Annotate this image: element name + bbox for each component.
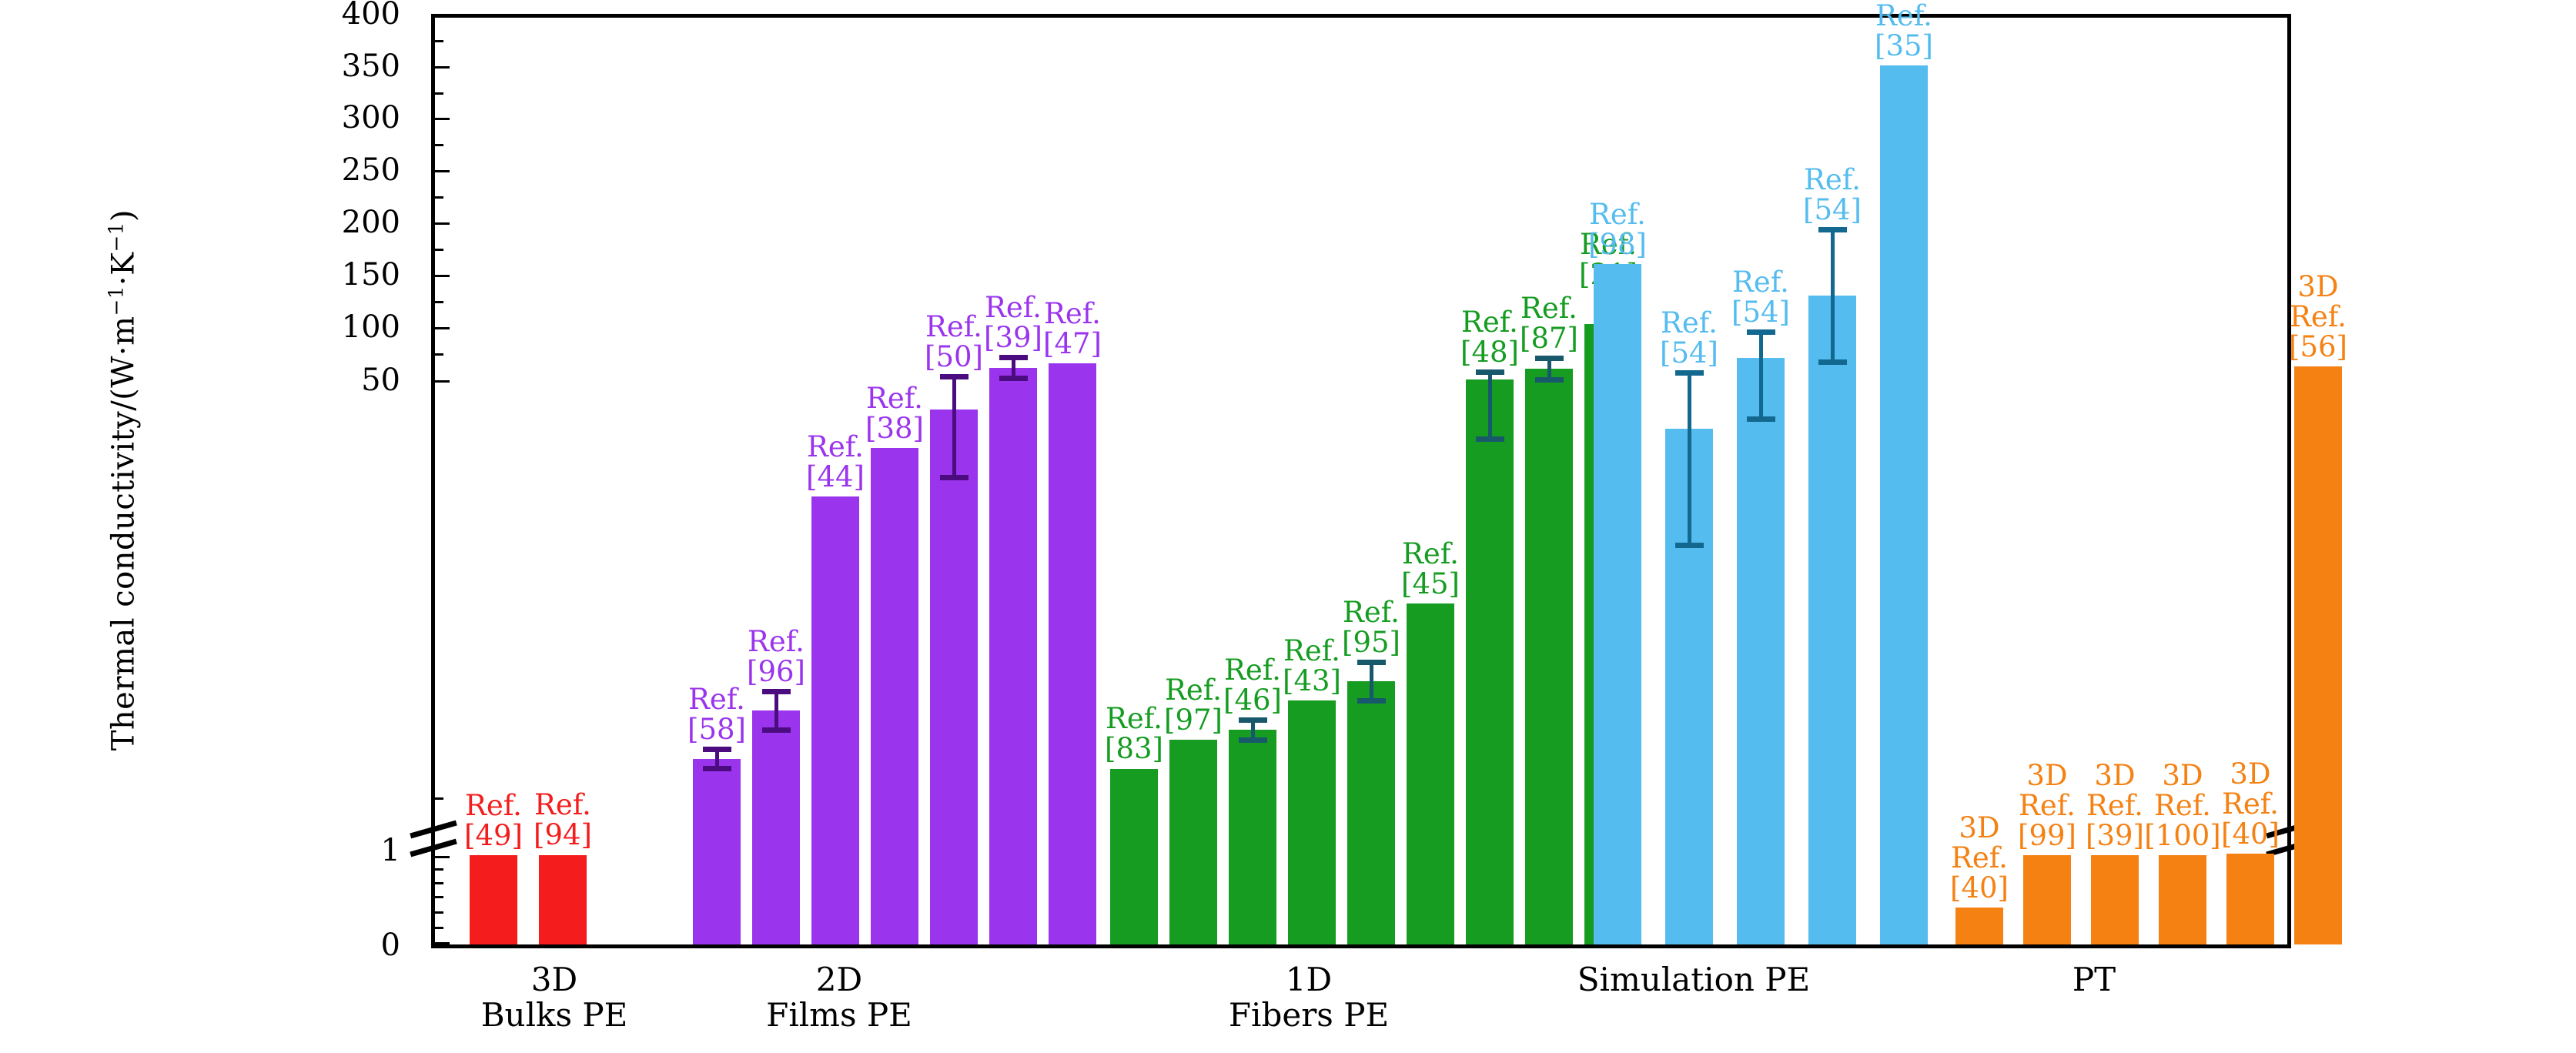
category-label-2d-films-pe: 2D Films PE: [708, 962, 970, 1033]
bar-ref-line-0: Ref.: [866, 382, 923, 415]
bar-ref-line-1: [83]: [1105, 732, 1163, 765]
bar[interactable]: [2023, 855, 2071, 944]
bar-ref-line-1: [45]: [1401, 567, 1460, 600]
error-bar-cap-top: [703, 747, 731, 752]
y-axis-title-text: Thermal conductivity/(W·m: [106, 316, 142, 750]
plot-area: Ref.[49]Ref.[94]Ref.[58]Ref.[96]Ref.[44]…: [431, 14, 2291, 948]
bar-ref-line-1: [44]: [806, 460, 865, 493]
category-label-3d-bulks-pe: 3D Bulks PE: [431, 962, 677, 1033]
bar-ref-line-2: [40]: [1950, 871, 2009, 904]
category-line2: Bulks PE: [481, 996, 628, 1034]
y-tick-100: [435, 327, 450, 329]
bar-ref-line-0: Ref.: [1044, 297, 1101, 330]
y-tick-label-1: 1: [308, 835, 400, 866]
error-bar-cap-bottom: [1818, 359, 1847, 365]
bar[interactable]: [470, 855, 517, 944]
y-tick-1: [435, 856, 450, 858]
bar-reference-label: Ref.[54]: [1778, 165, 1886, 225]
bar-reference-label: Ref.[47]: [1019, 299, 1126, 359]
bar-ref-line-0: Ref.: [1804, 163, 1861, 196]
bar[interactable]: [693, 759, 741, 944]
bar-ref-line-0: Ref.: [1875, 0, 1932, 32]
error-bar-cap-bottom: [1357, 698, 1386, 704]
bar-reference-label: 3DRef.[40]: [2196, 759, 2304, 849]
y-tick-50: [435, 380, 450, 383]
y-tick-label-300: 300: [308, 102, 400, 133]
y-tick-label-150: 150: [308, 259, 400, 290]
y-axis-title: Thermal conductivity/(W·m−1·K−1): [105, 95, 141, 865]
bar-ref-line-1: [87]: [1520, 322, 1578, 355]
bar-ref-line-1: [43]: [1283, 664, 1341, 697]
bar-ref-line-0: Ref.: [1589, 198, 1646, 231]
bar-ref-line-2: [40]: [2221, 817, 2280, 851]
y-axis-title-sup-2: −1: [105, 222, 128, 252]
bar-ref-line-0: Ref.: [748, 625, 805, 658]
bar-ref-line-1: [95]: [1342, 626, 1400, 659]
bar-ref-line-1: Ref.: [2290, 300, 2347, 333]
error-bar-cap-bottom: [940, 475, 969, 480]
error-bar-cap-bottom: [1476, 436, 1504, 442]
bar-ref-line-1: [38]: [865, 412, 924, 445]
category-line2: Fibers PE: [1229, 996, 1389, 1034]
y-minor-tick-upper-3: [435, 144, 443, 146]
bar-ref-line-1: [47]: [1043, 327, 1102, 360]
bar-ref-line-0: Ref.: [1732, 266, 1789, 299]
error-bar-cap-bottom: [1747, 416, 1775, 422]
bar[interactable]: [2091, 855, 2139, 944]
y-tick-label-0: 0: [308, 930, 400, 961]
bar[interactable]: [1049, 363, 1096, 944]
error-bar-cap-bottom: [1675, 543, 1704, 548]
y-tick-label-350: 350: [308, 51, 400, 82]
error-bar: [1488, 372, 1492, 439]
bar[interactable]: [539, 855, 587, 945]
bar[interactable]: [2226, 854, 2274, 944]
bar-ref-line-1: [94]: [534, 818, 592, 851]
bar-ref-line-1: [96]: [747, 655, 805, 688]
bar[interactable]: [1594, 264, 1641, 944]
bar-reference-label: Ref.[35]: [1850, 1, 1958, 61]
category-label-pt: PT: [1894, 962, 2294, 998]
bar-ref-line-0: Ref.: [1521, 292, 1577, 325]
bar-ref-line-1: [54]: [1731, 296, 1790, 329]
bar-ref-line-0: Ref.: [688, 683, 745, 716]
bar-reference-label: Ref.[94]: [509, 790, 617, 850]
error-bar-cap-top: [1357, 660, 1386, 665]
category-line1: PT: [2073, 961, 2116, 998]
category-line2: Films PE: [766, 996, 912, 1034]
y-axis-line: [431, 14, 435, 948]
bar[interactable]: [1229, 730, 1276, 944]
error-bar: [1759, 332, 1763, 419]
chart-canvas: Thermal conductivity/(W·m−1·K−1) 400 350…: [0, 0, 2576, 1053]
error-bar-cap-top: [1818, 227, 1847, 232]
error-bar-cap-top: [1476, 369, 1504, 375]
bar[interactable]: [1808, 296, 1856, 944]
bar-reference-label: Ref.[98]: [1564, 199, 1671, 259]
bar[interactable]: [1880, 65, 1928, 944]
y-tick-label-200: 200: [308, 207, 400, 238]
bar[interactable]: [752, 710, 800, 944]
bar-ref-line-1: [98]: [1588, 228, 1647, 261]
y-tick-250: [435, 170, 450, 172]
error-bar: [1831, 229, 1835, 361]
y-minor-tick-upper-6: [435, 301, 443, 303]
bar-ref-line-1: Ref.: [2222, 787, 2279, 821]
bar-ref-line-0: Ref.: [1343, 596, 1400, 629]
bar[interactable]: [2159, 855, 2206, 944]
category-line1: 2D: [816, 961, 862, 998]
y-tick-0: [435, 942, 450, 944]
y-tick-350: [435, 66, 450, 69]
y-minor-tick-4: [435, 911, 443, 914]
y-minor-tick-upper-1: [435, 40, 443, 42]
bar[interactable]: [930, 409, 978, 944]
error-bar: [1688, 373, 1691, 545]
bar[interactable]: [1466, 379, 1514, 944]
y-tick-300: [435, 118, 450, 120]
y-minor-tick-upper-4: [435, 196, 443, 199]
y-axis-title-sup-1: −1: [105, 286, 128, 316]
y-minor-tick-5: [435, 927, 443, 929]
error-bar: [774, 691, 778, 730]
error-bar-cap-bottom: [999, 376, 1028, 381]
bar-ref-line-0: 3D: [2230, 757, 2270, 791]
bar[interactable]: [1288, 700, 1336, 944]
error-bar-cap-top: [940, 374, 969, 379]
bar-ref-line-1: [54]: [1803, 193, 1862, 226]
category-line1: 3D: [531, 961, 577, 998]
error-bar-cap-top: [1535, 356, 1564, 361]
y-minor-tick-3: [435, 896, 443, 898]
bar-ref-line-2: [56]: [2289, 330, 2347, 363]
bar[interactable]: [1525, 369, 1573, 944]
y-axis-title-end: ): [106, 209, 142, 222]
bar[interactable]: [1110, 769, 1158, 945]
y-tick-label-400: 400: [308, 0, 400, 29]
top-axis-line: [431, 14, 2291, 18]
bar[interactable]: [1407, 603, 1454, 944]
bar-ref-line-0: Ref.: [1402, 537, 1459, 570]
error-bar-cap-bottom: [762, 727, 791, 733]
y-tick-150: [435, 275, 450, 277]
bar-reference-label: 3DRef.[56]: [2264, 272, 2372, 362]
bar[interactable]: [871, 448, 918, 944]
error-bar-cap-bottom: [1535, 377, 1564, 383]
error-bar: [1547, 358, 1551, 379]
bar-ref-line-0: Ref.: [534, 788, 591, 821]
y-minor-tick-2: [435, 882, 443, 884]
bar[interactable]: [1737, 358, 1785, 944]
error-bar-cap-bottom: [703, 766, 731, 771]
bar[interactable]: [2294, 366, 2342, 944]
bar[interactable]: [989, 368, 1037, 944]
error-bar-cap-bottom: [1239, 737, 1267, 743]
y-minor-tick-upper-5: [435, 249, 443, 251]
error-bar-cap-top: [1675, 370, 1704, 376]
error-bar: [952, 376, 956, 478]
error-bar-cap-top: [1747, 329, 1775, 335]
category-line1: Simulation PE: [1577, 961, 1810, 998]
x-axis-line: [431, 944, 2291, 948]
bar[interactable]: [1169, 740, 1217, 944]
bar-ref-line-1: [54]: [1660, 336, 1718, 369]
error-bar-cap-top: [762, 689, 791, 694]
bar[interactable]: [811, 496, 859, 944]
bar-ref-line-1: [58]: [687, 713, 746, 746]
category-label-simulation-pe: Simulation PE: [1463, 962, 1925, 998]
category-line1: 1D: [1286, 961, 1332, 998]
y-minor-tick-upper-7: [435, 353, 443, 356]
bar[interactable]: [1955, 908, 2003, 944]
y-tick-label-50: 50: [308, 365, 400, 396]
y-tick-200: [435, 222, 450, 225]
bar[interactable]: [1347, 681, 1395, 944]
category-label-1d-fibers-pe: 1D Fibers PE: [1178, 962, 1440, 1033]
error-bar: [1012, 357, 1015, 378]
bar-ref-line-1: [35]: [1875, 29, 1933, 62]
bar-ref-line-0: 3D: [2297, 270, 2338, 303]
y-tick-label-100: 100: [308, 312, 400, 343]
bar-reference-label: Ref.[54]: [1707, 267, 1815, 327]
error-bar-cap-top: [1239, 717, 1267, 723]
y-tick-label-250: 250: [308, 155, 400, 186]
error-bar: [1370, 662, 1373, 700]
y-minor-tick-upper-2: [435, 92, 443, 95]
y-tick-400: [435, 14, 450, 16]
y-axis-title-mid: ·K: [106, 252, 142, 286]
y-minor-tick-1: [435, 868, 443, 871]
